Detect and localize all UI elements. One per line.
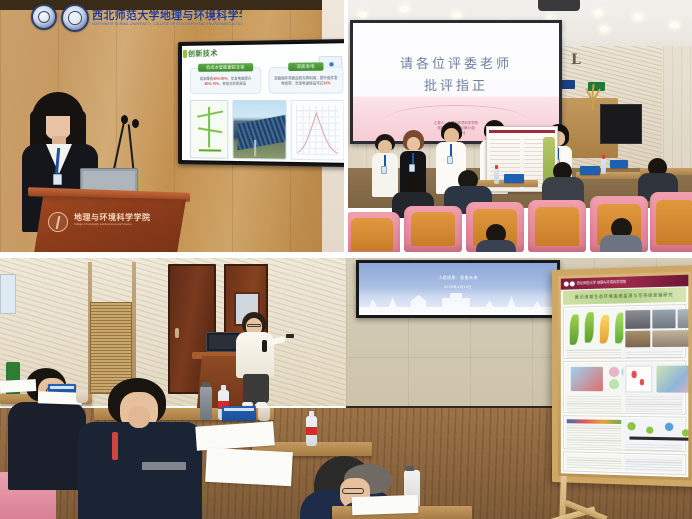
slide-card-a-header: 低成本智能跟踪支架 bbox=[198, 63, 253, 72]
hall-screen-title: 小组成果：智能未来 bbox=[359, 275, 557, 281]
ceiling-projector bbox=[538, 0, 580, 11]
decorative-plant-icon bbox=[584, 84, 602, 110]
thanks-line-1: 请各位评委老师 bbox=[353, 53, 559, 72]
podium-label-en: College of Geography and Environmental S… bbox=[74, 223, 174, 226]
poster-section-4 bbox=[563, 451, 686, 475]
poster-easel-board: 西北师范大学 地理与环境科学学院 黄河流域生态环境遥感监测与可持续发展研究 bbox=[552, 265, 692, 487]
scoring-sheet bbox=[205, 448, 293, 486]
thanks-line-2: 批评指正 bbox=[353, 75, 559, 94]
wall-letter-decor: L bbox=[571, 52, 581, 68]
seat-cushion bbox=[535, 207, 579, 245]
auditorium-seat[interactable] bbox=[348, 212, 400, 252]
poster-logo-icon bbox=[564, 281, 569, 286]
slide-figure-solar-array-photo bbox=[232, 100, 286, 160]
research-poster-sheet: 西北师范大学 地理与环境科学学院 黄河流域生态环境遥感监测与可持续发展研究 bbox=[561, 275, 688, 478]
panel-speaker-at-podium: 西北师范大学地理与环境科学学院 NORTHWEST NORMAL UNIVERS… bbox=[0, 0, 344, 252]
podium-label-cn: 地理与环境科学学院 bbox=[74, 213, 151, 222]
handheld-microphone bbox=[262, 340, 267, 352]
student-1-face bbox=[378, 140, 392, 154]
diagram-base bbox=[199, 149, 221, 151]
judge-person-2 bbox=[78, 378, 208, 519]
poster-title: 黄河流域生态环境遥感监测与可持续发展研究 bbox=[563, 287, 686, 304]
poster-table-panel bbox=[565, 417, 623, 448]
left-edge-screen bbox=[0, 274, 16, 314]
wall-banner-english: NORTHWEST NORMAL UNIVERSITY · COLLEGE OF… bbox=[92, 22, 242, 26]
auditorium-seat[interactable] bbox=[650, 192, 692, 252]
poster-network-panel bbox=[623, 418, 684, 450]
student-3-badge bbox=[447, 156, 453, 164]
poster-section-1 bbox=[563, 304, 686, 359]
judge-2-body bbox=[78, 422, 202, 519]
thermos-flask bbox=[200, 386, 212, 420]
poster-section-2 bbox=[563, 360, 686, 414]
poster-maps-panel bbox=[565, 307, 623, 356]
poster-logo-icon-2 bbox=[570, 281, 575, 286]
judge-4-glasses-icon bbox=[342, 488, 364, 494]
seated-person-front bbox=[600, 218, 642, 252]
ceiling-light-icon bbox=[670, 22, 679, 28]
auditorium-seat[interactable] bbox=[528, 200, 586, 252]
slide-title: 创新技术 bbox=[188, 48, 218, 58]
wall-banner-school: 地理与环境科学学院 bbox=[160, 10, 242, 22]
card-a-text-2: ，年发电量提升 bbox=[228, 76, 252, 80]
skyline-graphic bbox=[359, 289, 557, 315]
ceiling-light-icon bbox=[452, 12, 461, 18]
slide-figure-power-curve bbox=[291, 100, 344, 161]
podium-laptop bbox=[206, 332, 240, 354]
card-a-value-2: 60%-70% bbox=[205, 81, 219, 85]
seat-cushion bbox=[411, 212, 455, 246]
slide-figure-tracker-diagram bbox=[190, 100, 228, 159]
presenter-glasses-icon bbox=[247, 324, 261, 327]
side-monitor bbox=[600, 104, 642, 144]
student-1-badge bbox=[381, 166, 387, 174]
ceiling-light-icon bbox=[600, 26, 609, 32]
poster-institution: 西北师范大学 地理与环境科学学院 bbox=[577, 279, 626, 286]
seated-shoulders bbox=[476, 240, 516, 252]
water-bottle bbox=[494, 168, 499, 184]
seated-person-front bbox=[476, 224, 516, 252]
poster-section-3 bbox=[563, 415, 686, 452]
slide-surface: 创新技术 低成本智能跟踪支架 成本降低40%-50%，年发电量提升60%-70%… bbox=[182, 43, 344, 163]
microphone-head-1 bbox=[121, 115, 128, 124]
ceiling-light-icon bbox=[358, 12, 367, 18]
ceiling-light-icon bbox=[634, 14, 643, 20]
audience-person bbox=[542, 162, 584, 200]
judge-1-body bbox=[8, 402, 86, 490]
poster-conclusion-panel bbox=[565, 453, 623, 471]
podium-seal-icon bbox=[48, 212, 68, 232]
bottle-label bbox=[306, 427, 317, 435]
poster-photos-panel bbox=[623, 306, 684, 356]
card-b-value: 12% bbox=[323, 81, 330, 85]
card-a-text-3: ，有效光利用率高 bbox=[219, 81, 246, 85]
presenter-shoe-right bbox=[256, 402, 267, 407]
microphone-head-2 bbox=[132, 119, 139, 128]
wall-banner-university: 西北师范大学 bbox=[92, 10, 160, 22]
slide-card-a: 低成本智能跟踪支架 成本降低40%-50%，年发电量提升60%-70%，有效光利… bbox=[190, 67, 261, 94]
scoring-sheet bbox=[352, 495, 419, 515]
poster-model-panel bbox=[565, 363, 623, 412]
hall-projection-screen: 小组成果：智能未来 2025年4月13日 bbox=[356, 260, 560, 318]
ceiling-light-icon bbox=[594, 10, 603, 16]
presenter-person bbox=[236, 312, 276, 406]
wall-banner: 西北师范大学地理与环境科学学院 NORTHWEST NORMAL UNIVERS… bbox=[92, 10, 242, 30]
ceiling-light-icon bbox=[400, 6, 409, 12]
student-2-face bbox=[407, 137, 420, 151]
power-curve-svg bbox=[296, 105, 339, 155]
slide-card-b: 双面发电 双面组件背面反射光再利用，提升组件发电效率，年发电量增益可达12% bbox=[269, 66, 344, 93]
judge-2-placard bbox=[222, 406, 256, 421]
solar-panel-grid bbox=[238, 115, 286, 150]
photo-collage: 西北师范大学地理与环境科学学院 NORTHWEST NORMAL UNIVERS… bbox=[0, 0, 692, 519]
presentation-display: 创新技术 低成本智能跟踪支架 成本降低40%-50%，年发电量提升60%-70%… bbox=[178, 39, 344, 167]
wall-slat bbox=[132, 262, 136, 394]
poster-reference-panel bbox=[623, 455, 684, 473]
name-placard bbox=[610, 160, 628, 168]
student-2-badge bbox=[409, 164, 415, 172]
seat-cushion bbox=[351, 218, 394, 251]
water-bottle bbox=[306, 416, 317, 446]
seat-cushion bbox=[656, 200, 692, 244]
university-crest-icon bbox=[31, 4, 57, 30]
slide-card-b-body: 双面组件背面反射光再利用，提升组件发电效率，年发电量增益可达12% bbox=[274, 76, 338, 86]
card-a-value-1: 40%-50% bbox=[213, 77, 228, 81]
laptop-screen bbox=[209, 335, 237, 349]
judge-2-jacket-logo bbox=[142, 462, 186, 470]
name-placard bbox=[504, 174, 524, 183]
panel-student-team-with-poster: L 请各位评委老师 批评指正 汇报人：地理与环境科学学院 指导教师：科研训练小组… bbox=[348, 0, 692, 252]
presentation-clicker bbox=[286, 334, 294, 338]
slide-card-a-body: 成本降低40%-50%，年发电量提升60%-70%，有效光利用率高 bbox=[195, 76, 256, 86]
school-crest-icon bbox=[61, 4, 89, 32]
slide-card-b-header: 双面发电 bbox=[288, 62, 323, 71]
seated-shoulders bbox=[600, 235, 642, 252]
auditorium-seat[interactable] bbox=[404, 206, 462, 252]
panel-presentation-hall-wide: 小组成果：智能未来 2025年4月13日 西北师范大学 地理与环境科学学院 黄河… bbox=[0, 258, 692, 519]
screen-decor-arc bbox=[386, 105, 526, 119]
presenter-skirt bbox=[243, 374, 269, 404]
diagram-arm-lower bbox=[198, 127, 222, 133]
judge-2-lanyard bbox=[112, 432, 118, 460]
podium-label: 地理与环境科学学院 College of Geography and Envir… bbox=[74, 212, 174, 226]
poster-header-band bbox=[489, 130, 555, 133]
judge-2-hand bbox=[128, 406, 150, 428]
water-bottle bbox=[601, 158, 606, 174]
card-a-text-1: 成本降低 bbox=[200, 77, 213, 81]
solar-mast bbox=[254, 140, 256, 156]
poster-results-panel bbox=[623, 362, 684, 412]
paper-cup bbox=[258, 408, 270, 421]
speaker-id-badge bbox=[53, 174, 62, 185]
diagram-arm-upper bbox=[197, 110, 223, 117]
laptop-lid bbox=[206, 332, 240, 352]
scoring-sheet bbox=[0, 379, 36, 393]
